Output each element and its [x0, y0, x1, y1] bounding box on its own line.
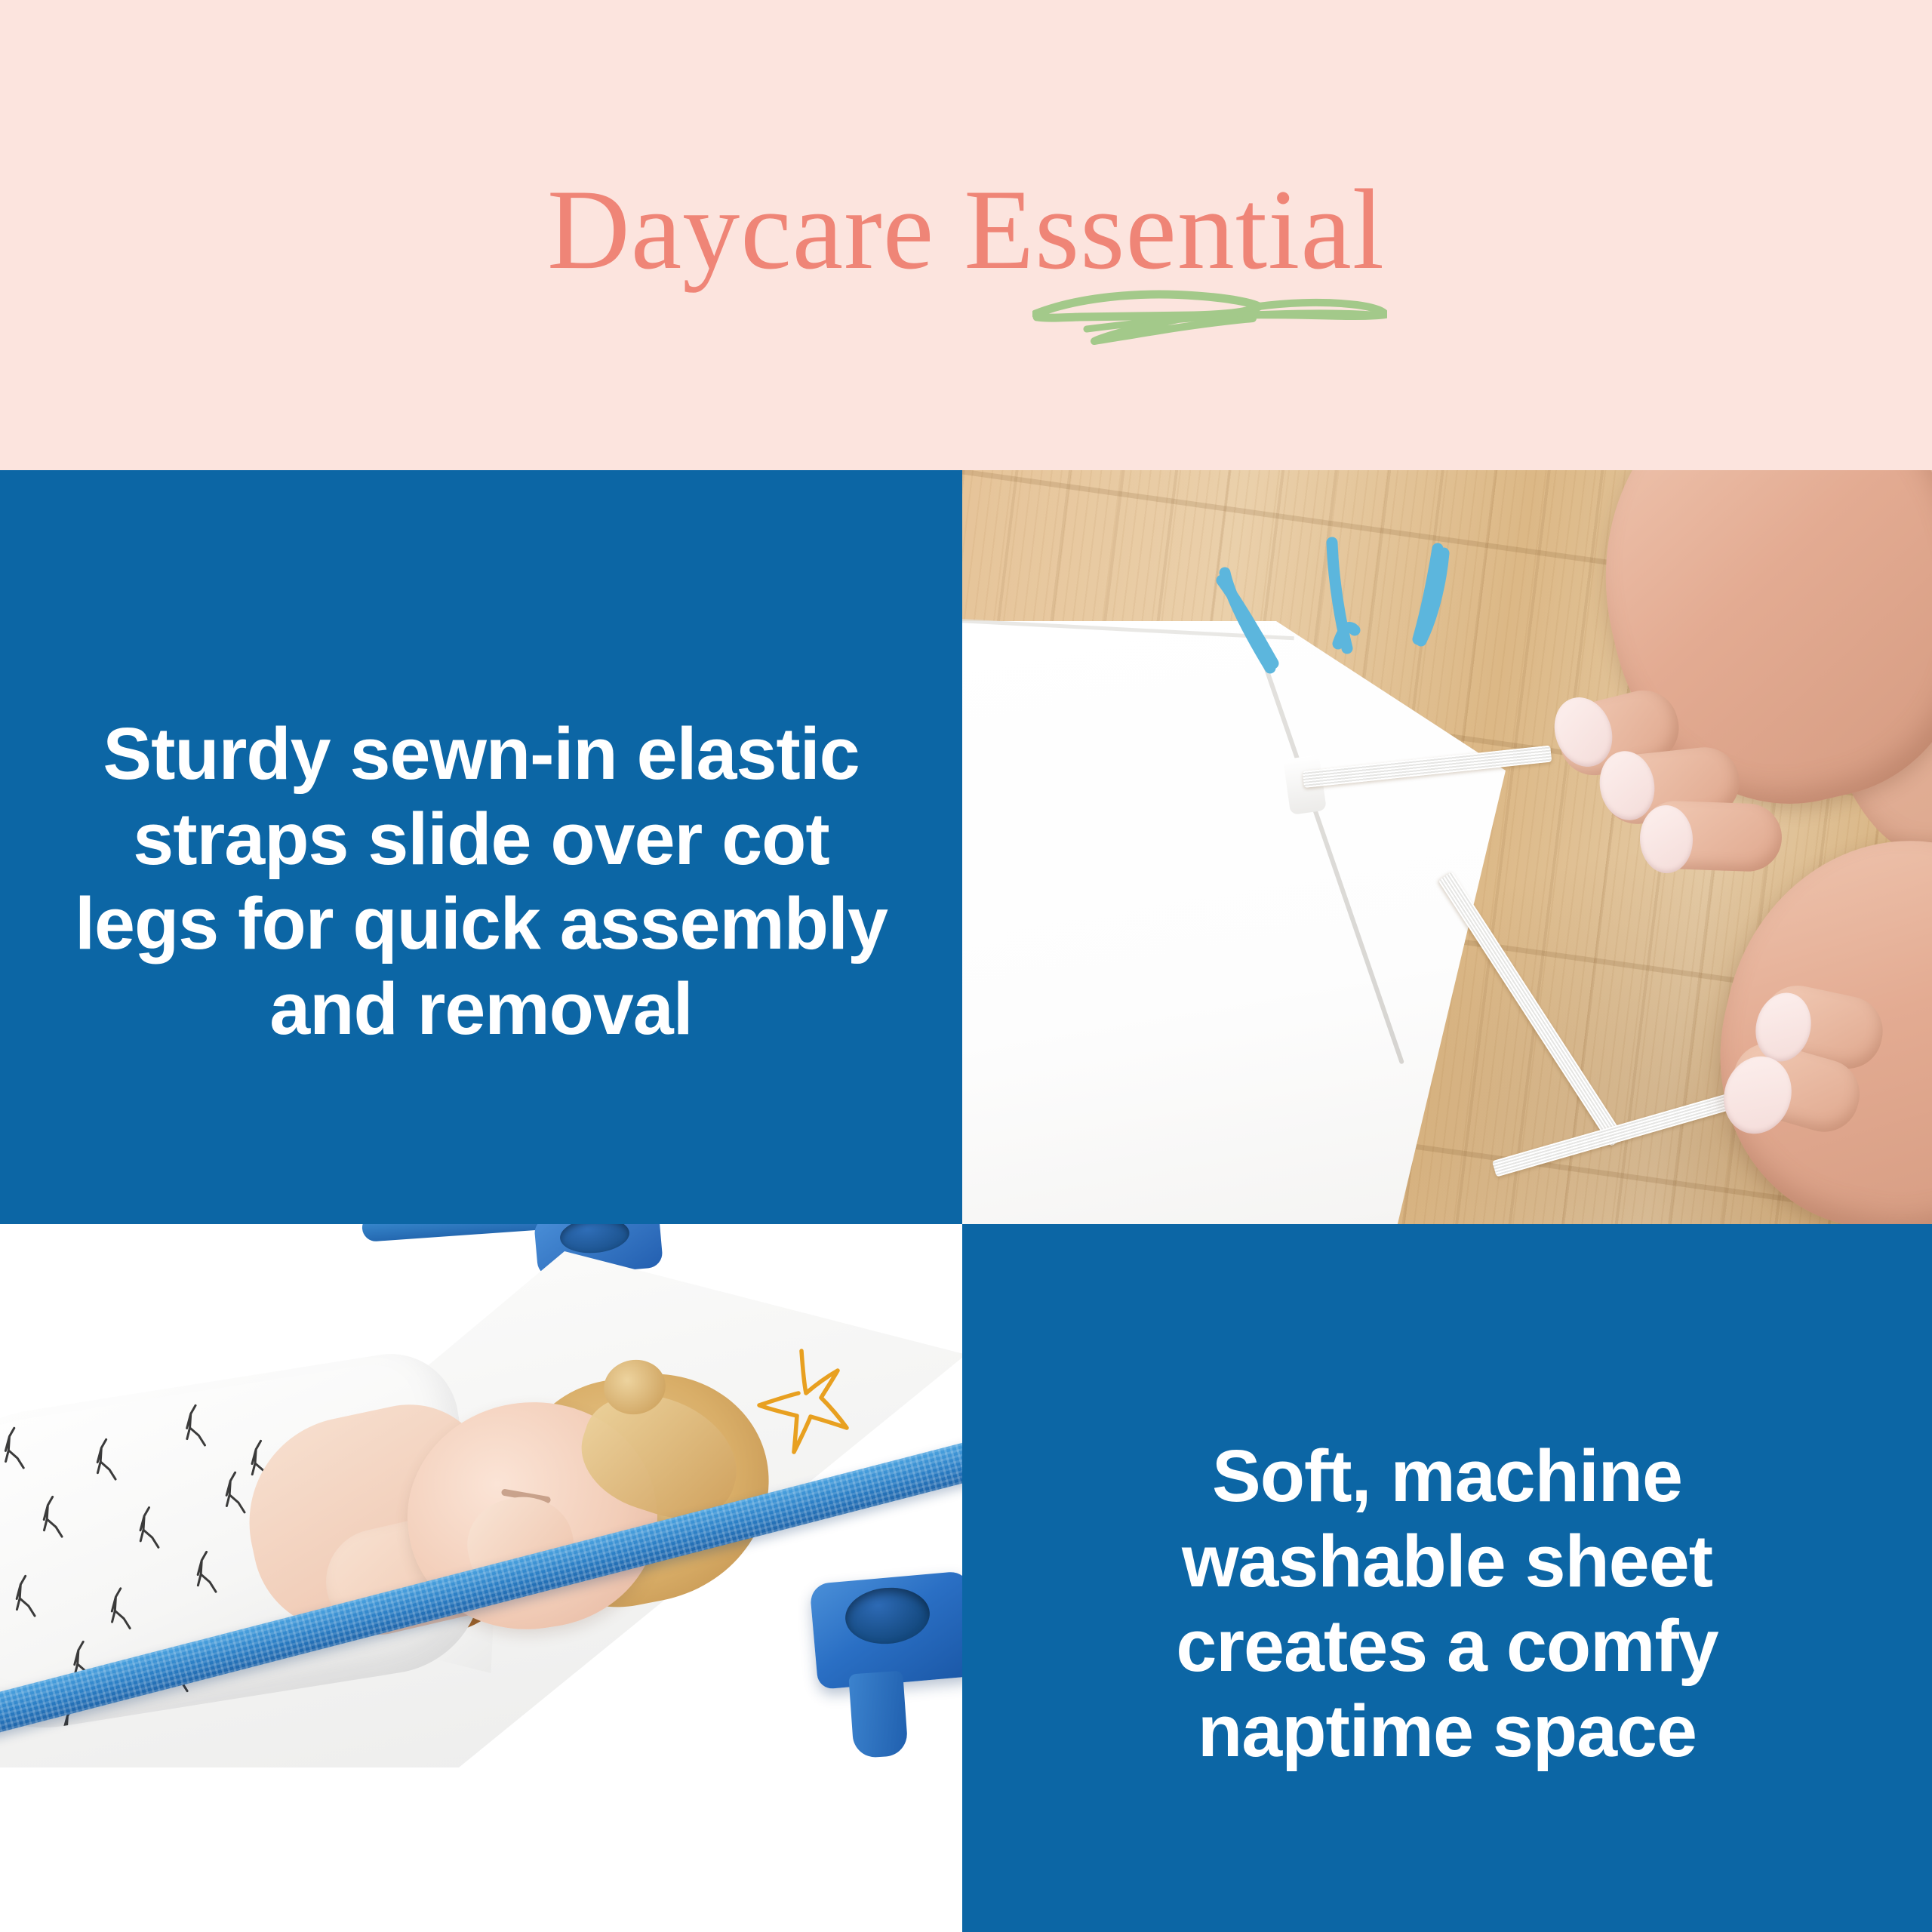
panel-bottom-right-text: Soft, machine washable sheet creates a c…	[962, 1224, 1932, 1932]
feature-line: washable sheet	[1051, 1519, 1843, 1604]
green-brush-underline-icon	[1032, 281, 1387, 364]
photo-sleeping-toddler-on-cot	[0, 1224, 962, 1932]
infographic-page: Daycare Essential Sturdy sewn-in elastic…	[0, 0, 1932, 1932]
photo-hands-pulling-elastic	[962, 470, 1932, 1224]
feature-line: and removal	[39, 967, 923, 1052]
motion-strokes-doodle-icon	[1189, 500, 1506, 727]
panel-top-left-text: Sturdy sewn-in elastic straps slide over…	[0, 470, 962, 1224]
feature-text-elastic-straps: Sturdy sewn-in elastic straps slide over…	[0, 712, 962, 1051]
page-title: Daycare Essential	[0, 172, 1932, 287]
feature-line: Soft, machine	[1051, 1434, 1843, 1519]
cot-leg-stub	[848, 1671, 909, 1759]
feature-line: naptime space	[1051, 1689, 1843, 1774]
header-band: Daycare Essential	[0, 0, 1932, 470]
feature-line: legs for quick assembly	[39, 881, 923, 967]
star-doodle-icon	[755, 1346, 860, 1460]
feature-text-washable-sheet: Soft, machine washable sheet creates a c…	[962, 1434, 1932, 1774]
feature-line: Sturdy sewn-in elastic	[39, 712, 923, 797]
feature-line: creates a comfy	[1051, 1604, 1843, 1689]
feature-line: straps slide over cot	[39, 797, 923, 882]
